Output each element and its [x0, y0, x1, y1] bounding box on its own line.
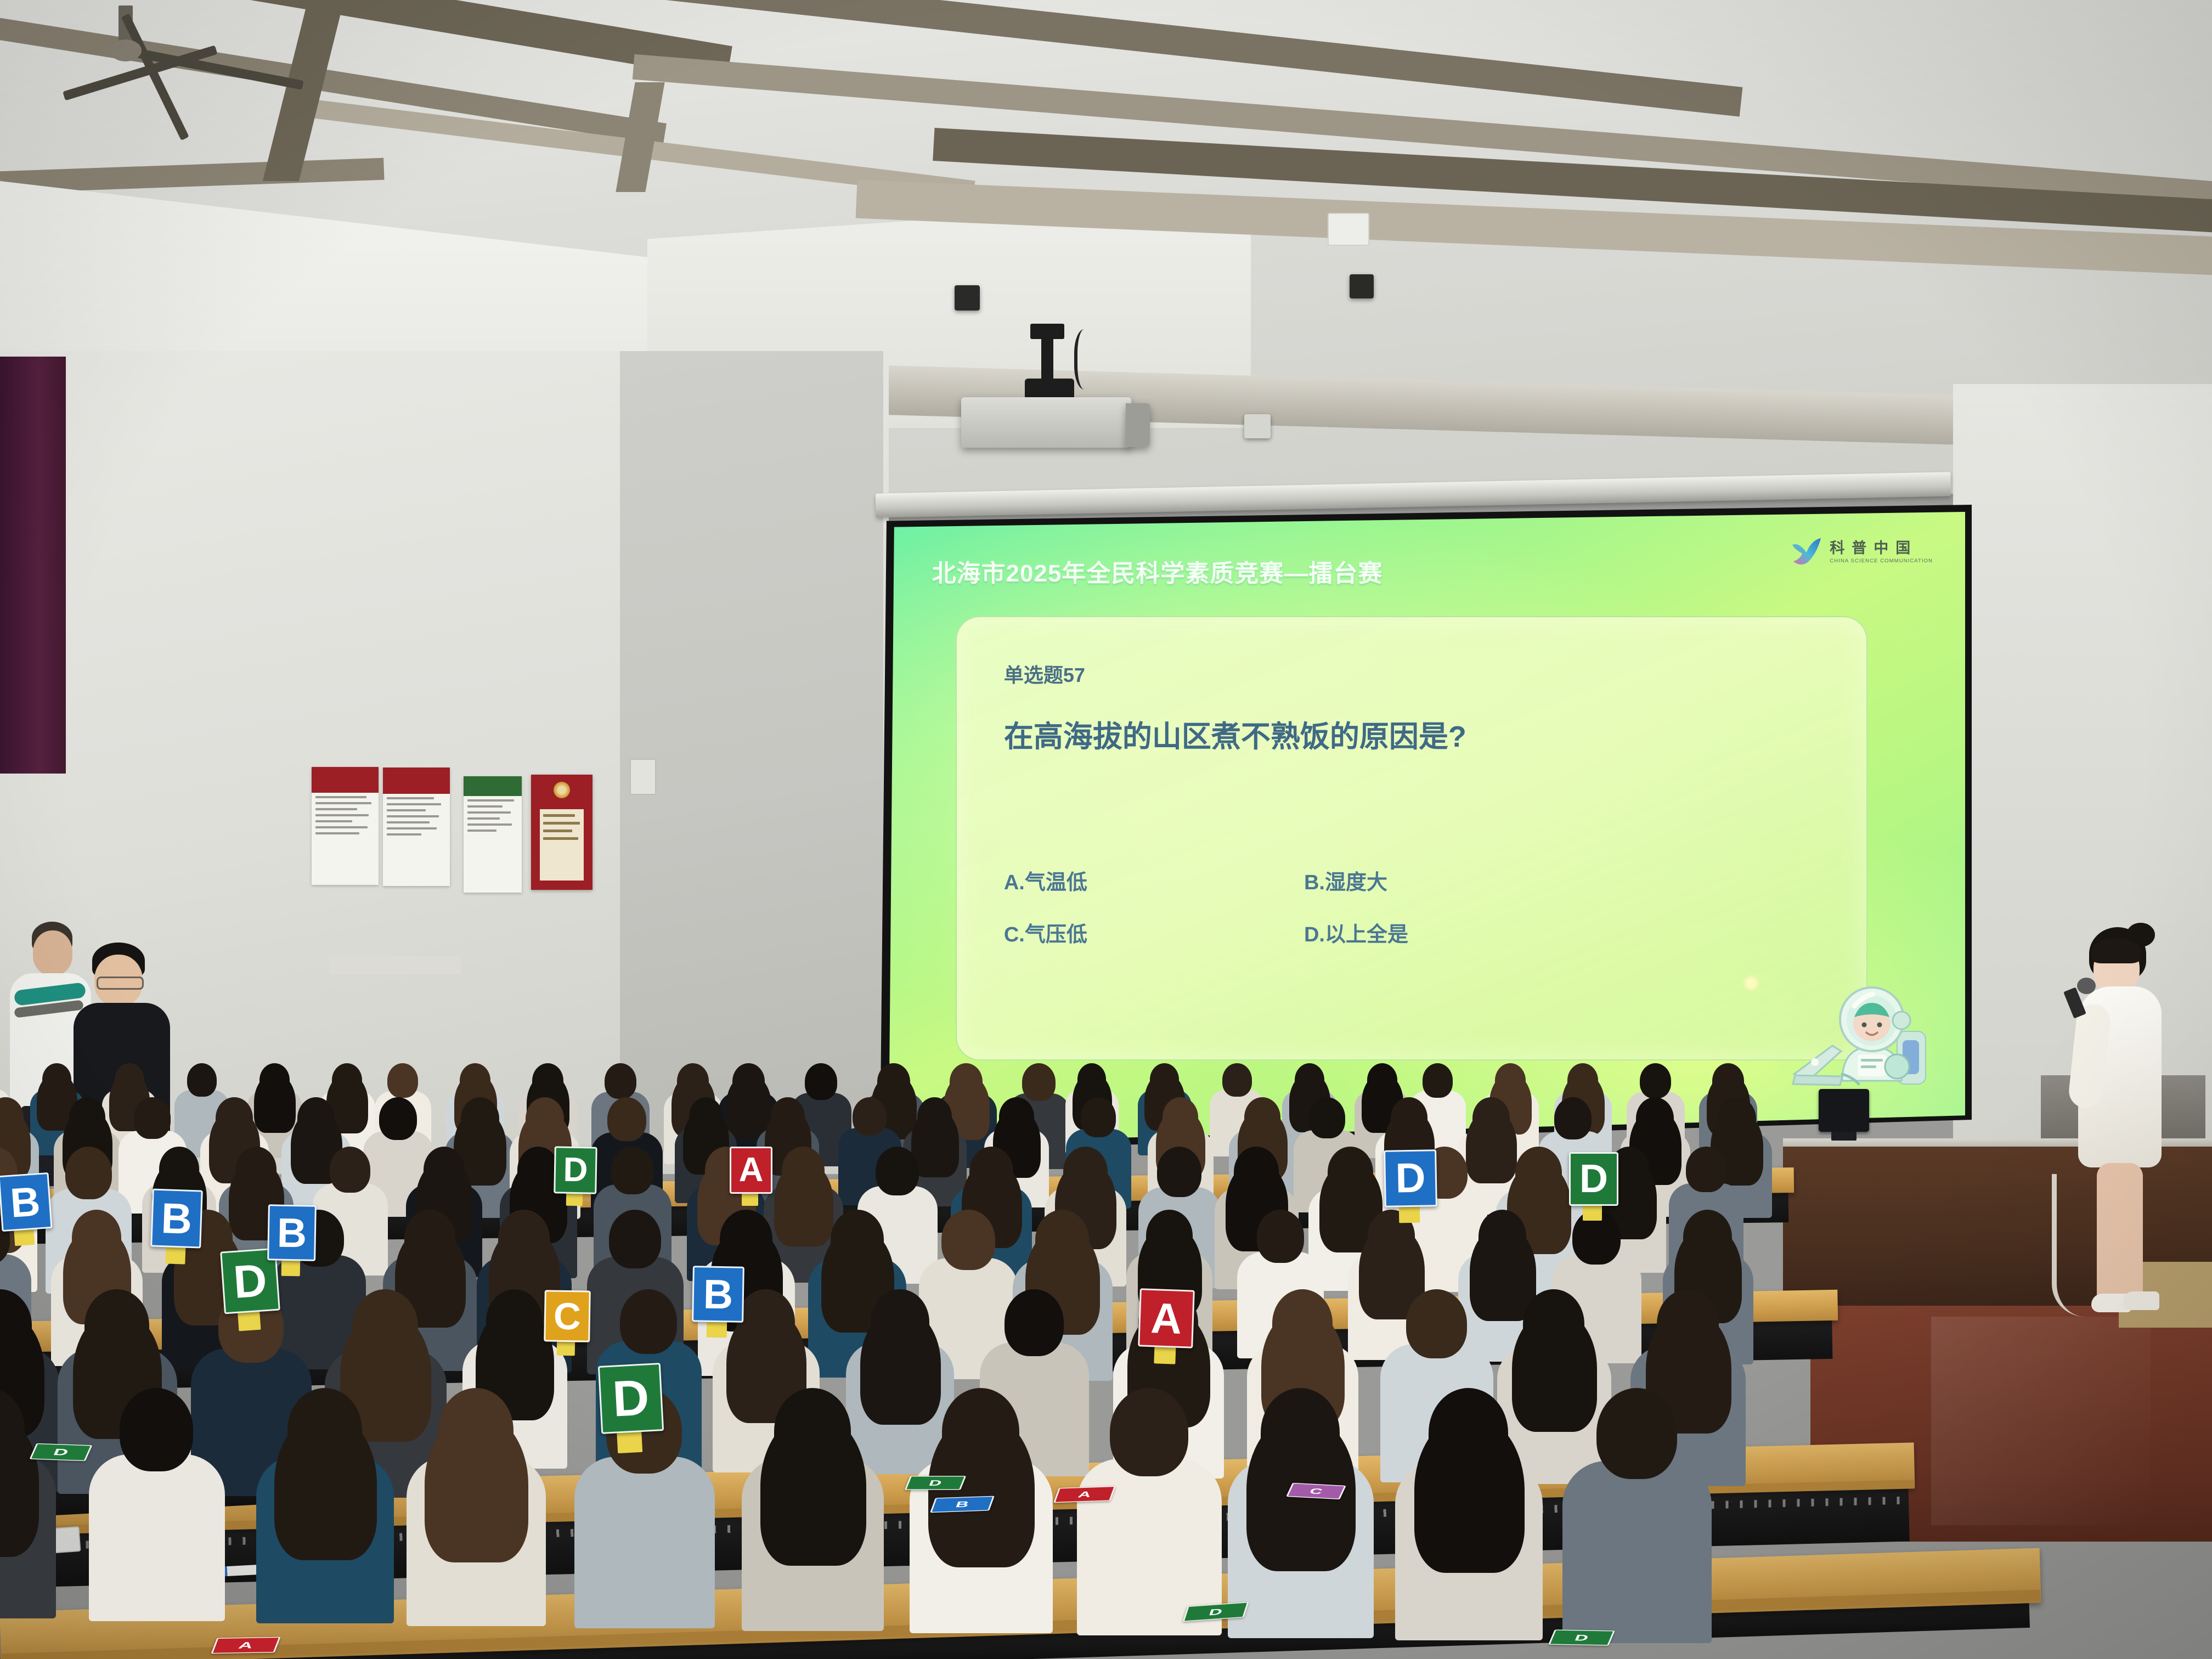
wall-poster	[383, 768, 450, 886]
answer-card-d[interactable]: D	[30, 1443, 93, 1462]
poster-text	[312, 793, 379, 842]
audience-hair	[438, 1388, 513, 1473]
poster-text	[383, 794, 450, 843]
audience-hair	[236, 1147, 276, 1192]
answer-card-d[interactable]: D	[598, 1363, 664, 1434]
audience-hair	[424, 1147, 465, 1193]
audience-torso	[89, 1454, 225, 1621]
logo-english: CHINA SCIENCE COMMUNICATION	[1830, 558, 1933, 564]
answer-card-c[interactable]: C	[1286, 1483, 1346, 1499]
projection-screen: 北海市2025年全民科学素质竞赛—擂台赛 科普中国 CHINA SCIENCE …	[889, 512, 1965, 1144]
audience-torso	[574, 1457, 715, 1628]
sparkle-icon	[1742, 974, 1760, 992]
plaque-emblem	[554, 782, 570, 798]
audience-hair	[1110, 1388, 1188, 1476]
audience-hair	[917, 1097, 952, 1136]
audience-hair	[115, 1063, 144, 1097]
answer-card-d[interactable]: D	[1384, 1149, 1437, 1207]
answer-card-a[interactable]: A	[730, 1147, 772, 1194]
audience-hair	[1257, 1210, 1304, 1263]
poster-header	[383, 768, 450, 794]
audience-hair	[941, 1210, 995, 1270]
audience-hair	[120, 1388, 193, 1471]
audience-hair	[1429, 1388, 1508, 1478]
audience-hair	[620, 1289, 677, 1354]
wall-shadow	[620, 351, 883, 1152]
audience-hair	[737, 1289, 795, 1355]
audience-hair	[877, 1063, 910, 1101]
audience-hair	[1146, 1210, 1193, 1262]
answer-card-d[interactable]: D	[554, 1146, 597, 1194]
audience-hair	[1640, 1063, 1671, 1098]
audience-hair	[607, 1097, 646, 1141]
answer-card-b[interactable]: B	[930, 1496, 995, 1513]
projector-side	[1126, 403, 1150, 447]
audience-hair	[1005, 1289, 1064, 1356]
bird-wing-logo-icon	[1790, 537, 1824, 568]
option-a: A.气温低	[1004, 865, 1304, 895]
audience-hair	[1261, 1388, 1340, 1477]
question-text: 在高海拔的山区煮不熟饭的原因是?	[1004, 712, 1466, 755]
audience-hair	[72, 1210, 121, 1266]
wall-poster	[464, 776, 522, 893]
lecture-hall-photo: 北海市2025年全民科学素质竞赛—擂台赛 科普中国 CHINA SCIENCE …	[0, 0, 2212, 1659]
audience-hair	[689, 1097, 723, 1135]
audience-hair	[771, 1097, 805, 1136]
audience-hair	[1657, 1289, 1719, 1359]
host-presenter	[2063, 927, 2189, 1399]
audience-hair	[853, 1097, 887, 1136]
audience-hair	[732, 1063, 765, 1099]
audience-hair	[332, 1063, 362, 1098]
options-grid: A.气温低 B.湿度大 C.气压低 D.以上全是	[1004, 865, 1604, 947]
audience-hair	[1495, 1063, 1526, 1098]
audience-hair	[999, 1097, 1034, 1137]
answer-card-d[interactable]: D	[1548, 1629, 1615, 1645]
audience-hair	[1244, 1097, 1280, 1138]
projector-mount	[1041, 336, 1053, 382]
audience-hair	[187, 1063, 217, 1097]
stage-monitor	[1819, 1089, 1869, 1132]
wall-sign	[329, 956, 461, 974]
audience-hair	[1472, 1097, 1510, 1139]
answer-card-b[interactable]: B	[150, 1188, 203, 1248]
audience-hair	[782, 1147, 825, 1195]
audience-hair	[297, 1097, 335, 1139]
host-legs	[2097, 1163, 2143, 1300]
audience-hair	[1515, 1147, 1562, 1199]
host-shoe	[2123, 1291, 2159, 1310]
audience-hair	[1718, 1097, 1756, 1141]
slide-title: 北海市2025年全民科学素质竞赛—擂台赛	[932, 554, 1383, 589]
audience-hair	[1272, 1289, 1333, 1357]
audience-hair	[461, 1097, 499, 1141]
audience-hair	[517, 1147, 559, 1194]
audience-hair	[532, 1063, 563, 1098]
audience-hair	[805, 1063, 837, 1100]
audience-hair	[1554, 1097, 1592, 1139]
answer-card-a[interactable]: A	[211, 1637, 280, 1654]
microphone-head	[2077, 978, 2096, 994]
audience-hair	[42, 1063, 71, 1096]
audience-hair	[1636, 1097, 1674, 1140]
astronaut-mascot-icon	[1790, 967, 1954, 1131]
poster-header	[312, 767, 379, 793]
audience-hair	[1391, 1097, 1427, 1139]
logo-text: 科普中国 CHINA SCIENCE COMMUNICATION	[1830, 541, 1933, 564]
audience-hair	[330, 1147, 370, 1193]
option-c: C.气压低	[1004, 917, 1304, 947]
ceiling-speaker	[955, 285, 980, 311]
wall-control-panel[interactable]	[630, 759, 656, 795]
wall-poster	[312, 767, 379, 885]
answer-card-b[interactable]: B	[267, 1204, 317, 1261]
audience-hair	[969, 1147, 1013, 1196]
audience-hair	[1367, 1063, 1397, 1097]
audience-hair	[609, 1210, 661, 1268]
audience-hair	[774, 1388, 851, 1475]
poster-text	[464, 796, 522, 839]
audience-hair	[1222, 1063, 1252, 1097]
plaque-inner	[540, 809, 584, 881]
ceiling-speaker	[1244, 414, 1271, 438]
audience-hair	[352, 1289, 418, 1364]
audience-hair	[1157, 1147, 1201, 1197]
audience-hair	[404, 1210, 455, 1267]
answer-card-b[interactable]: B	[0, 1172, 52, 1232]
audience-hair	[871, 1289, 929, 1356]
answer-card-a[interactable]: A	[1138, 1288, 1195, 1348]
audience-hair	[1063, 1147, 1108, 1197]
logo-chinese: 科普中国	[1830, 541, 1933, 556]
option-b: B.湿度大	[1304, 865, 1604, 895]
china-science-communication-logo: 科普中国 CHINA SCIENCE COMMUNICATION	[1790, 537, 1933, 568]
audience-hair	[84, 1289, 149, 1362]
answer-card-b[interactable]: B	[692, 1266, 744, 1323]
audience-hair	[69, 1097, 105, 1138]
question-number: 单选题57	[1004, 659, 1085, 688]
answer-card-c[interactable]: C	[544, 1290, 591, 1342]
audience-hair	[876, 1147, 919, 1195]
ceiling-speaker	[1350, 274, 1374, 298]
audience-hair	[1150, 1063, 1179, 1096]
question-card: 单选题57 在高海拔的山区煮不熟饭的原因是? A.气温低 B.湿度大 C.气压低…	[956, 616, 1867, 1060]
audience-hair	[460, 1063, 490, 1098]
stage-curtain	[0, 357, 66, 774]
audience-hair	[387, 1063, 418, 1098]
audience-hair	[605, 1063, 636, 1099]
wall-plaque	[531, 775, 592, 890]
audience-hair	[1567, 1063, 1598, 1098]
audience-hair	[379, 1097, 417, 1140]
audience-hair	[159, 1147, 199, 1192]
audience-hair	[1081, 1097, 1116, 1137]
audience-hair	[134, 1097, 171, 1139]
audience-hair	[942, 1388, 1019, 1476]
audience-hair	[720, 1210, 772, 1269]
audience-hair	[1479, 1210, 1526, 1264]
audience-hair	[65, 1147, 112, 1199]
audience-hair	[287, 1388, 362, 1472]
answer-card-d[interactable]: D	[1569, 1152, 1618, 1206]
audience-hair	[1077, 1063, 1106, 1096]
audience-hair	[259, 1063, 290, 1097]
smoke-detector	[1328, 213, 1369, 246]
audience-hair	[526, 1097, 564, 1141]
audience-hair	[611, 1147, 653, 1194]
host-hair-front	[2091, 938, 2141, 963]
audience-member	[1596, 1388, 1782, 1659]
option-d: D.以上全是	[1304, 917, 1604, 947]
audience-hair	[1309, 1097, 1345, 1138]
audience-hair	[1035, 1210, 1089, 1271]
audience-hair	[1596, 1388, 1677, 1479]
audience-hair	[950, 1063, 983, 1101]
poster-header	[464, 776, 522, 796]
audience-hair	[0, 1097, 24, 1138]
audience-hair	[1163, 1097, 1198, 1137]
audience-hair	[498, 1210, 550, 1268]
audience-hair	[1295, 1063, 1324, 1097]
audience-hair	[831, 1210, 884, 1269]
audience-hair	[486, 1289, 543, 1353]
staff-head	[33, 930, 72, 975]
audience-hair	[677, 1063, 709, 1099]
audience-torso	[1562, 1461, 1712, 1643]
audience-hair	[1686, 1147, 1726, 1192]
audience-hair	[1523, 1289, 1584, 1359]
audience-hair	[1712, 1063, 1744, 1099]
audience-hair	[216, 1097, 253, 1139]
answer-card-d[interactable]: D	[905, 1476, 966, 1490]
answer-card-a[interactable]: A	[1053, 1486, 1116, 1503]
audience-hair	[1328, 1147, 1373, 1198]
projector	[961, 397, 1131, 448]
projector-cable	[1074, 329, 1099, 390]
audience-hair	[1234, 1147, 1279, 1198]
audience-hair	[1423, 1063, 1453, 1098]
audience-hair	[1406, 1289, 1467, 1358]
staff-glasses	[97, 977, 144, 990]
audience-hair	[1683, 1210, 1732, 1265]
ceiling-fan	[33, 5, 340, 115]
audience-hair	[1022, 1063, 1056, 1101]
